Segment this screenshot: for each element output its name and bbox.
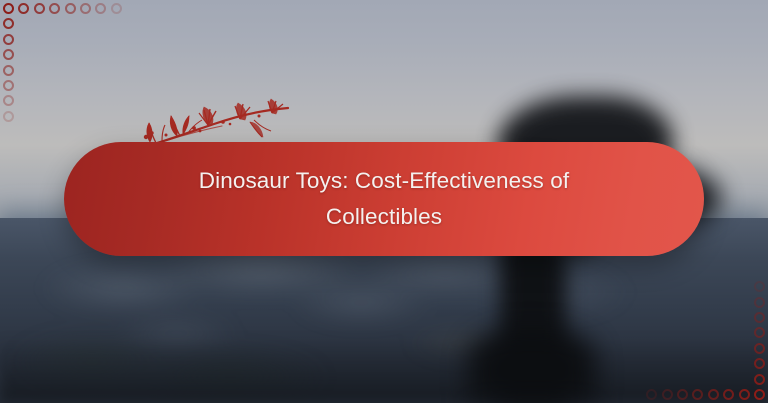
bottom-vignette xyxy=(0,339,768,403)
page-title: Dinosaur Toys: Cost-Effectiveness of Col… xyxy=(169,163,599,236)
viewer-silhouette-base xyxy=(468,330,596,403)
featured-image-banner: Dinosaur Toys: Cost-Effectiveness of Col… xyxy=(0,0,768,403)
title-banner-pill: Dinosaur Toys: Cost-Effectiveness of Col… xyxy=(64,142,704,256)
